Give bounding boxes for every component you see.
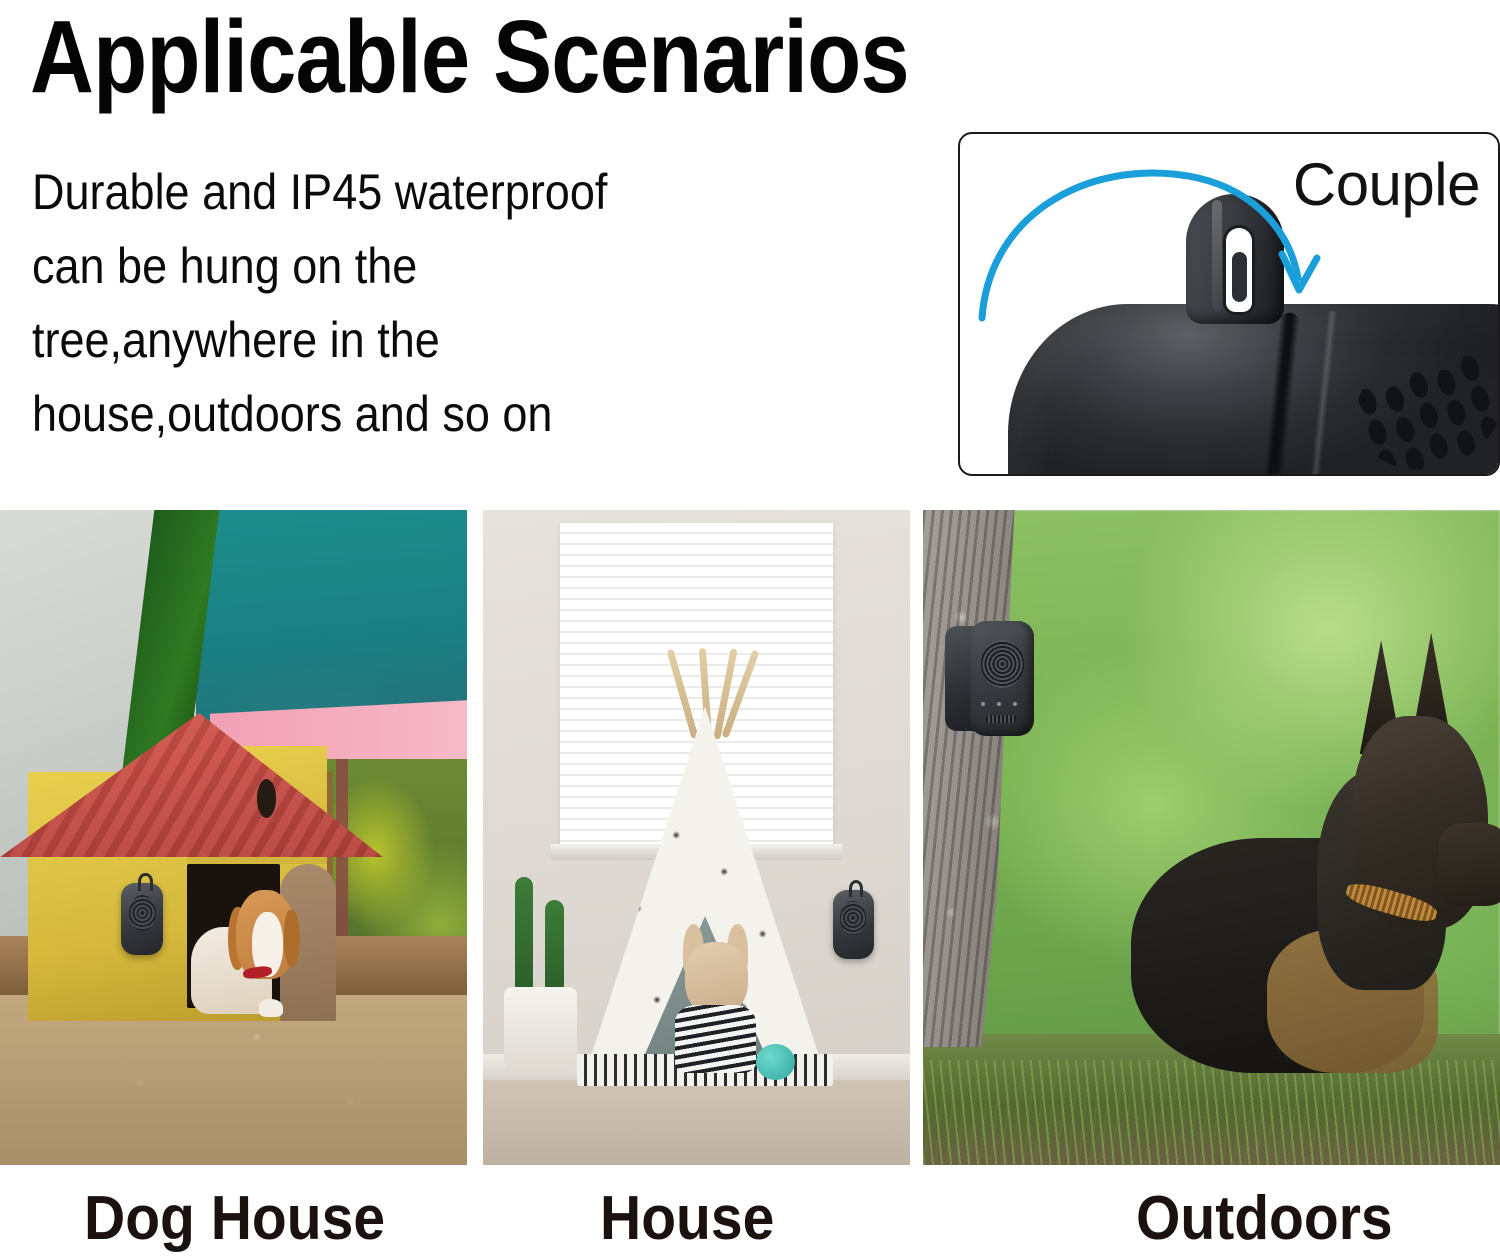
scenario-photo-dog-house [0,510,467,1165]
scene-outdoors [923,510,1500,1165]
yarn-ball-toy [756,1044,794,1080]
scene-dog-house [0,510,467,1165]
mounted-device [833,890,874,959]
german-shepherd [1131,693,1489,1073]
dog-snout [1438,823,1500,907]
speaker-grille-icon [981,640,1024,688]
scenario-photo-house [483,510,910,1165]
description-line-4: house,outdoors and so on [32,377,716,451]
beagle-dog [191,890,303,1014]
teepee-pole [666,648,698,738]
floor [483,1080,910,1165]
speaker-grille-icon [840,901,866,935]
cactus-stem [545,900,564,994]
cactus-stem [515,877,534,995]
background-trunk [336,759,348,956]
grass [923,1060,1500,1165]
couple-label: Couple [1293,154,1480,216]
page-title: Applicable Scenarios [30,2,909,112]
plant-pot [504,987,577,1073]
scenario-photo-outdoors [923,510,1500,1165]
description-text: Durable and IP45 waterproof can be hung … [32,155,716,451]
dog-ear-right [284,910,300,967]
french-bulldog [675,942,756,1073]
description-line-3: tree,anywhere in the [32,303,716,377]
caption-outdoors: Outdoors [1136,1186,1393,1252]
scenario-photo-row [0,510,1500,1165]
caption-house: House [600,1186,774,1252]
scene-house [483,510,910,1165]
dog-paw [259,999,284,1016]
speaker-grille-icon [129,895,156,931]
couple-inset-panel: Couple [958,132,1500,476]
dog-striped-shirt [675,1005,756,1073]
caption-dog-house: Dog House [84,1186,385,1252]
cactus-plant [504,877,577,1074]
device-hook-icon [849,880,863,897]
product-feature-page: Applicable Scenarios Durable and IP45 wa… [0,0,1500,1259]
mounted-device [945,621,1034,736]
description-line-1: Durable and IP45 waterproof [32,155,716,229]
device-vent-slot [986,715,1016,723]
mounted-device [121,883,163,955]
device-hook-icon [138,873,152,890]
description-line-2: can be hung on the [32,229,716,303]
